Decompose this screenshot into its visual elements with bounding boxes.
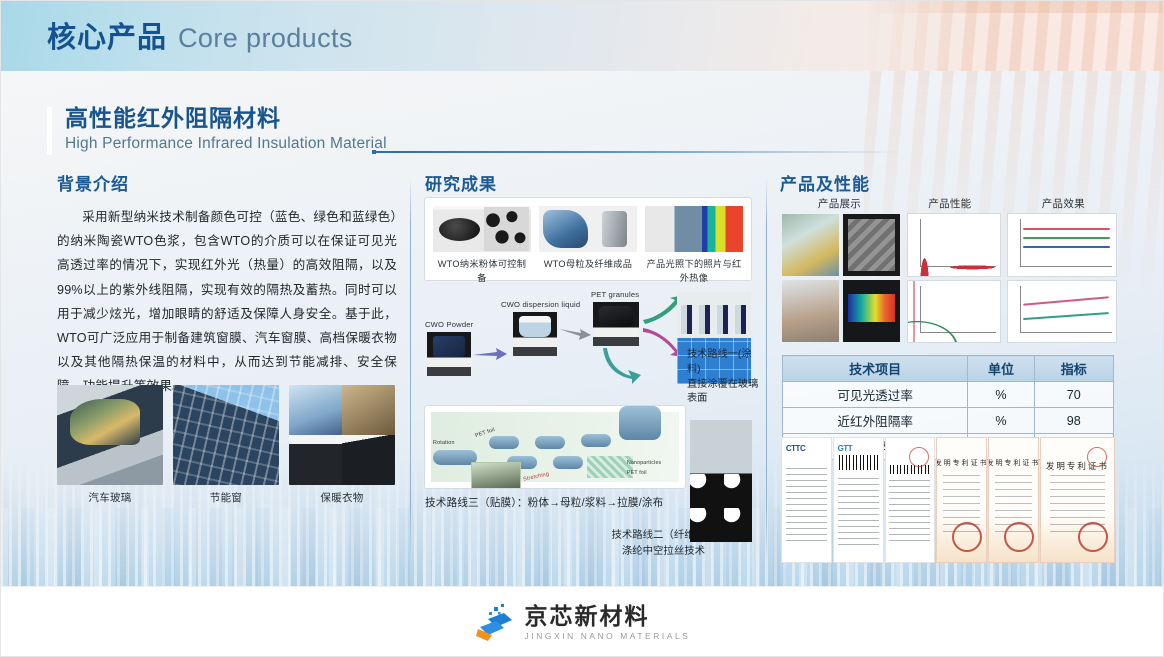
application-item: 节能窗 (173, 385, 279, 505)
application-item: 汽车玻璃 (57, 385, 163, 505)
slide-header: 核心产品 Core products (0, 0, 1164, 71)
certificates-row: CTTC GTT 发明专利证书 发明专利证书 发明专 (782, 438, 1114, 562)
table-row: 近红外阻隔率 % 98 (783, 408, 1114, 434)
header-columns-watermark (864, 0, 1164, 71)
research-results-card: WTO纳米粉体可控制备 WTO母粒及纤维成品 产品光照下的照片与红外热像 (425, 198, 751, 280)
route2-line1: 技术路线二（纤维） (575, 528, 705, 544)
patent-certificate-1: 发明专利证书 (937, 438, 986, 562)
film-label-rotation: Rotation (433, 440, 455, 446)
cwo-dispersion-liquid-photo (513, 312, 557, 356)
gtt-barcode-report: GTT (834, 438, 883, 562)
application-caption: 保暖衣物 (289, 490, 395, 505)
route3-label: 技术路线三（贴膜）：粉体→母粒/浆料→拉膜/涂布 (425, 495, 663, 510)
pet-granules-photo (593, 302, 639, 346)
inspection-report (886, 438, 935, 562)
transmittance-spectrum-chart (908, 214, 1000, 276)
cwo-powder-photo (427, 332, 471, 376)
product-subcaption-row: 产品展示 产品性能 产品效果 (782, 196, 1116, 211)
gtt-logo-label: GTT (838, 444, 853, 453)
colored-glass-samples-photo (782, 214, 839, 276)
route1-line2: 直接涂覆在玻璃表面 (687, 378, 765, 408)
section-title-cn: 高性能红外阻隔材料 (65, 105, 387, 133)
application-caption: 节能窗 (173, 490, 279, 505)
film-stretching-diagram: Rotation PET foil Stretching Nanoparticl… (425, 406, 685, 488)
logo-name-en: JINGXIN NANO MATERIALS (525, 632, 691, 640)
table-cell-unit: % (968, 408, 1034, 434)
research-result-caption: 产品光照下的照片与红外热像 (645, 256, 743, 284)
flow-arrow-1-icon (473, 346, 509, 362)
irradiation-time-chart (1008, 281, 1116, 343)
research-result-item: WTO纳米粉体可控制备 (433, 206, 531, 284)
section-accent-bar (47, 107, 52, 155)
flow-step-label: CWO Powder (425, 320, 473, 329)
slide-footer: 京芯新材料 JINGXIN NANO MATERIALS (0, 586, 1164, 657)
table-col-unit: 单位 (968, 356, 1034, 382)
flow-step-label: PET granules (591, 290, 639, 299)
middle-column-heading: 研究成果 (425, 170, 765, 195)
header-title-cn: 核心产品 (47, 14, 167, 56)
temperature-curve-chart (908, 281, 1000, 343)
subcaption-product-display: 产品展示 (782, 196, 897, 211)
section-title: 高性能红外阻隔材料 High Performance Infrared Insu… (47, 105, 387, 155)
section-title-en: High Performance Infrared Insulation Mat… (65, 135, 387, 153)
patent-title-label: 发明专利证书 (989, 458, 1038, 468)
cttc-test-report: CTTC (782, 438, 831, 562)
header-title-en: Core products (178, 23, 353, 54)
cttc-logo-label: CTTC (786, 444, 805, 453)
product-infrared-thermal-photo (645, 206, 743, 252)
fabric-sample-photo (782, 280, 839, 342)
wto-masterbatch-fiber-photo (539, 206, 637, 252)
table-cell-value: 70 (1034, 382, 1113, 408)
patent-title-label: 发明专利证书 (937, 458, 986, 468)
research-result-item: 产品光照下的照片与红外热像 (645, 206, 743, 284)
application-caption: 汽车玻璃 (57, 490, 163, 505)
application-photo-row: 汽车玻璃 节能窗 保暖衣物 (57, 385, 397, 505)
research-result-caption: WTO母粒及纤维成品 (539, 256, 637, 270)
column-background: 背景介绍 采用新型纳米技术制备颜色可控（蓝色、绿色和蓝绿色）的纳米陶瓷WTO色浆… (57, 170, 397, 398)
patent-certificate-3: 发明专利证书 (1041, 438, 1114, 562)
column-divider-right (766, 178, 767, 560)
route2-label: 技术路线二（纤维） 涤纶中空拉丝技术 (575, 528, 705, 559)
column-research-results: 研究成果 WTO纳米粉体可控制备 WTO母粒及纤维成品 产品光照下的照片与红外热… (425, 170, 765, 205)
table-col-value: 指标 (1034, 356, 1113, 382)
film-label-nanoparticles: Nanoparticles (627, 460, 661, 466)
film-line-graphic: Rotation PET foil Stretching Nanoparticl… (431, 412, 679, 482)
temperature-vs-time-chart (1008, 214, 1116, 276)
flow-arrow-2-icon (559, 326, 593, 342)
header-title: 核心产品 Core products (47, 14, 353, 56)
flow-step-label: CWO dispersion liquid (501, 300, 580, 309)
table-col-item: 技术项目 (783, 356, 968, 382)
background-paragraph: 采用新型纳米技术制备颜色可控（蓝色、绿色和蓝绿色）的纳米陶瓷WTO色浆，包含WT… (57, 205, 397, 398)
table-header-row: 技术项目 单位 指标 (783, 356, 1114, 382)
subcaption-product-performance: 产品性能 (905, 196, 995, 211)
car-window-film-photo (57, 385, 163, 485)
table-cell-unit: % (968, 382, 1034, 408)
application-item: 保暖衣物 (289, 385, 395, 505)
thermal-clothing-photo (289, 385, 395, 485)
table-row: 可见光透过率 % 70 (783, 382, 1114, 408)
subcaption-product-effect: 产品效果 (1011, 196, 1116, 211)
research-result-item: WTO母粒及纤维成品 (539, 206, 637, 284)
wto-nano-powder-photo (433, 206, 531, 252)
product-display-photos (782, 214, 900, 342)
hollow-fiber-cross-section-photo (690, 420, 752, 542)
thermal-camera-photo (843, 280, 900, 342)
logo-text: 京芯新材料 JINGXIN NANO MATERIALS (525, 605, 691, 640)
route1-line1: 技术路线一(涂料) (687, 348, 765, 378)
patent-certificate-2: 发明专利证书 (989, 438, 1038, 562)
film-label-stretching: Stretching (523, 471, 550, 482)
table-cell-value: 98 (1034, 408, 1113, 434)
film-label-pet-foil-2: PET foil (627, 470, 647, 476)
route1-label: 技术路线一(涂料) 直接涂覆在玻璃表面 (687, 348, 765, 407)
flow-arrow-teal-icon (601, 346, 643, 386)
left-column-heading: 背景介绍 (57, 170, 397, 195)
column-product-performance: 产品及性能 产品展示 产品性能 产品效果 (780, 170, 1116, 205)
table-cell-item: 近红外阻隔率 (783, 408, 968, 434)
jingxin-logo-mark-icon (474, 603, 516, 643)
right-column-heading: 产品及性能 (780, 170, 1116, 195)
logo-name-cn: 京芯新材料 (525, 605, 691, 628)
masterbatch-pellets-photo (843, 214, 900, 276)
product-performance-charts (908, 214, 1000, 342)
section-rule (376, 151, 900, 153)
research-result-caption: WTO纳米粉体可控制备 (433, 256, 531, 284)
company-logo: 京芯新材料 JINGXIN NANO MATERIALS (474, 603, 691, 643)
slide-core-products: 核心产品 Core products 高性能红外阻隔材料 High Perfor… (0, 0, 1164, 657)
route2-line2: 涤纶中空拉丝技术 (575, 544, 705, 560)
product-effect-charts (1008, 214, 1116, 342)
table-cell-item: 可见光透过率 (783, 382, 968, 408)
energy-saving-glass-building-photo (173, 385, 279, 485)
column-divider-left (410, 178, 411, 560)
